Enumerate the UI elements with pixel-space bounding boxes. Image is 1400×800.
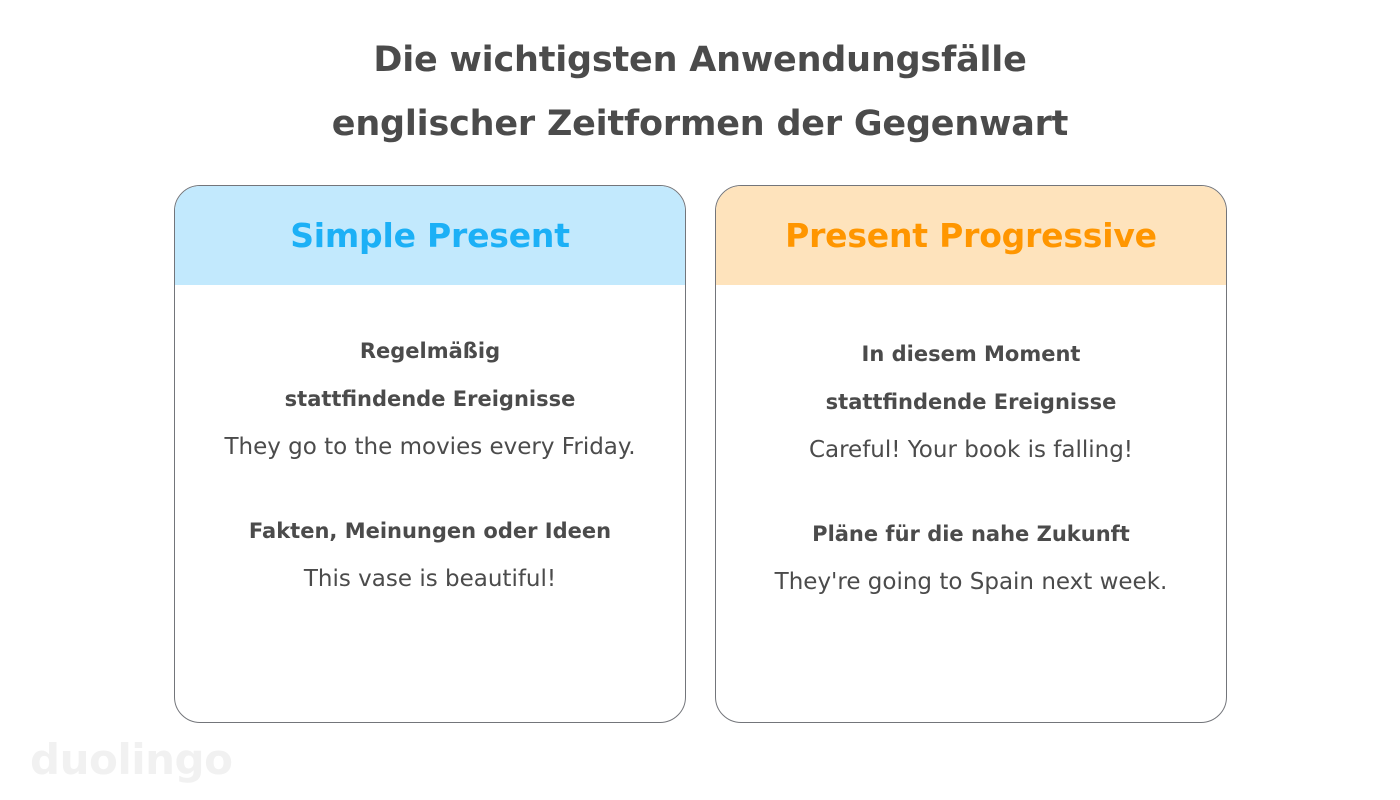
usecase-label: In diesem Moment	[738, 330, 1204, 378]
usecase-item: In diesem Moment stattfindende Ereigniss…	[738, 330, 1204, 474]
usecase-label: Fakten, Meinungen oder Ideen	[197, 507, 663, 555]
usecase-label: Regelmäßig	[197, 327, 663, 375]
usecase-example: This vase is beautiful!	[197, 555, 663, 603]
page-title-line-1: Die wichtigsten Anwendungsfälle	[0, 28, 1400, 92]
card-body-simple-present: Regelmäßig stattfindende Ereignisse They…	[175, 285, 685, 722]
card-header-simple-present: Simple Present	[175, 186, 685, 285]
usecase-item: Pläne für die nahe Zukunft They're going…	[738, 510, 1204, 606]
usecase-label: stattfindende Ereignisse	[197, 375, 663, 423]
card-body-present-progressive: In diesem Moment stattfindende Ereigniss…	[716, 285, 1226, 722]
usecase-example: They go to the movies every Friday.	[197, 423, 663, 471]
card-present-progressive: Present Progressive In diesem Moment sta…	[715, 185, 1227, 723]
usecase-item: Fakten, Meinungen oder Ideen This vase i…	[197, 507, 663, 603]
tense-cards-row: Simple Present Regelmäßig stattfindende …	[174, 185, 1227, 723]
duolingo-wordmark: duolingo	[30, 735, 232, 784]
usecase-label: Pläne für die nahe Zukunft	[738, 510, 1204, 558]
usecase-example: They're going to Spain next week.	[738, 558, 1204, 606]
usecase-example: Careful! Your book is falling!	[738, 426, 1204, 474]
card-header-present-progressive: Present Progressive	[716, 186, 1226, 285]
usecase-label: stattfindende Ereignisse	[738, 378, 1204, 426]
page-title-line-2: englischer Zeitformen der Gegenwart	[0, 92, 1400, 156]
card-simple-present: Simple Present Regelmäßig stattfindende …	[174, 185, 686, 723]
usecase-item: Regelmäßig stattfindende Ereignisse They…	[197, 327, 663, 471]
page-title: Die wichtigsten Anwendungsfälle englisch…	[0, 28, 1400, 156]
